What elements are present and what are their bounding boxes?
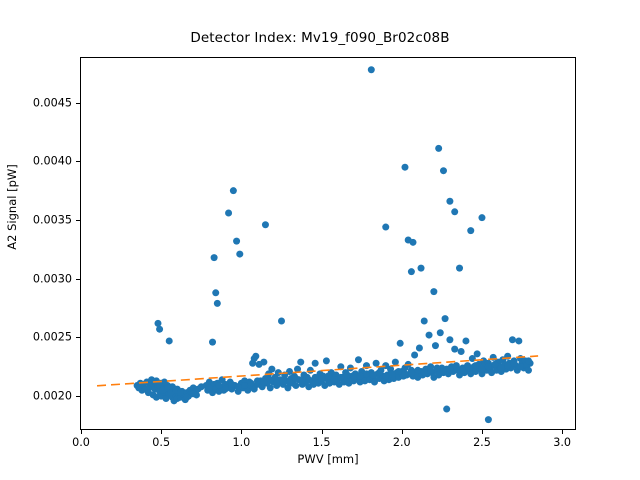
y-tick-label: 0.0030	[6, 272, 72, 285]
scatter-point	[183, 394, 190, 401]
scatter-point	[376, 369, 383, 376]
scatter-point	[286, 379, 293, 386]
scatter-point	[198, 383, 205, 390]
x-tick-mark	[241, 430, 242, 434]
scatter-point	[235, 383, 242, 390]
y-tick-mark	[76, 161, 80, 162]
scatter-point	[273, 380, 280, 387]
scatter-point	[474, 350, 481, 357]
scatter-point	[418, 265, 425, 272]
scatter-point	[453, 363, 460, 370]
scatter-point	[382, 224, 389, 231]
scatter-point	[446, 336, 453, 343]
scatter-point	[446, 198, 453, 205]
x-tick-label: 0.0	[51, 436, 111, 449]
scatter-point	[280, 377, 287, 384]
y-tick-mark	[76, 279, 80, 280]
scatter-point	[421, 317, 428, 324]
x-tick-label: 2.0	[372, 436, 432, 449]
scatter-point	[228, 381, 235, 388]
x-axis-tick-labels: 0.00.51.01.52.02.53.0	[0, 436, 640, 456]
scatter-point	[456, 265, 463, 272]
scatter-point	[312, 360, 319, 367]
scatter-point	[248, 380, 255, 387]
scatter-point	[214, 300, 221, 307]
scatter-point	[337, 374, 344, 381]
scatter-point	[421, 369, 428, 376]
scatter-point	[440, 167, 447, 174]
plot-area	[80, 57, 576, 430]
scatter-point	[462, 337, 469, 344]
scatter-point	[446, 366, 453, 373]
scatter-point	[459, 367, 466, 374]
scatter-point	[434, 364, 441, 371]
x-tick-label: 0.5	[131, 436, 191, 449]
scatter-point	[206, 384, 213, 391]
y-tick-label: 0.0020	[6, 390, 72, 403]
scatter-point	[307, 367, 314, 374]
scatter-point	[268, 366, 275, 373]
figure: Detector Index: Mv19_f090_Br02c08B A2 Si…	[0, 0, 640, 480]
scatter-point	[491, 361, 498, 368]
scatter-point	[440, 368, 447, 375]
scatter-point	[230, 187, 237, 194]
scatter-point	[236, 251, 243, 258]
scatter-point	[331, 376, 338, 383]
scatter-point	[430, 288, 437, 295]
scatter-point	[401, 370, 408, 377]
scatter-point	[485, 416, 492, 423]
scatter-point	[410, 239, 417, 246]
scatter-point	[517, 363, 524, 370]
scatter-plot-canvas	[81, 58, 575, 429]
scatter-point	[177, 389, 184, 396]
y-tick-mark	[76, 220, 80, 221]
scatter-point	[292, 382, 299, 389]
scatter-point	[267, 376, 274, 383]
scatter-point	[252, 353, 259, 360]
x-tick-mark	[161, 430, 162, 434]
scatter-point	[443, 406, 450, 413]
scatter-point	[368, 66, 375, 73]
x-tick-mark	[322, 430, 323, 434]
y-tick-mark	[76, 103, 80, 104]
scatter-point	[498, 364, 505, 371]
scatter-point	[427, 367, 434, 374]
scatter-point	[411, 352, 418, 359]
scatter-point	[515, 337, 522, 344]
scatter-points-group	[134, 66, 534, 423]
x-tick-mark	[482, 430, 483, 434]
scatter-point	[190, 390, 197, 397]
scatter-point	[325, 373, 332, 380]
x-tick-label: 2.5	[452, 436, 512, 449]
scatter-point	[525, 357, 532, 364]
scatter-point	[212, 289, 219, 296]
scatter-point	[156, 326, 163, 333]
scatter-point	[451, 208, 458, 215]
scatter-point	[437, 329, 444, 336]
scatter-point	[504, 362, 511, 369]
scatter-point	[467, 227, 474, 234]
scatter-point	[260, 379, 267, 386]
x-tick-label: 1.5	[292, 436, 352, 449]
x-tick-mark	[562, 430, 563, 434]
scatter-point	[426, 332, 433, 339]
scatter-point	[225, 209, 232, 216]
y-tick-label: 0.0040	[6, 155, 72, 168]
scatter-point	[478, 214, 485, 221]
y-axis-tick-labels: 0.00200.00250.00300.00350.00400.0045	[0, 0, 72, 480]
scatter-point	[297, 359, 304, 366]
scatter-point	[511, 360, 518, 367]
scatter-point	[299, 377, 306, 384]
scatter-point	[408, 268, 415, 275]
scatter-point	[209, 339, 216, 346]
scatter-point	[344, 371, 351, 378]
scatter-point	[233, 238, 240, 245]
scatter-point	[373, 360, 380, 367]
scatter-point	[241, 382, 248, 389]
scatter-point	[166, 337, 173, 344]
scatter-point	[369, 371, 376, 378]
scatter-point	[267, 384, 274, 391]
y-tick-label: 0.0035	[6, 214, 72, 227]
scatter-point	[395, 368, 402, 375]
scatter-point	[525, 367, 532, 374]
y-tick-label: 0.0045	[6, 96, 72, 109]
scatter-point	[323, 357, 330, 364]
scatter-point	[211, 254, 218, 261]
scatter-point	[432, 342, 439, 349]
scatter-point	[466, 364, 473, 371]
scatter-point	[154, 320, 161, 327]
scatter-point	[485, 363, 492, 370]
scatter-point	[509, 336, 516, 343]
scatter-point	[442, 315, 449, 322]
scatter-point	[355, 356, 362, 363]
scatter-point	[278, 317, 285, 324]
x-tick-label: 1.0	[211, 436, 271, 449]
scatter-point	[350, 374, 357, 381]
scatter-point	[472, 362, 479, 369]
x-tick-mark	[81, 430, 82, 434]
scatter-point	[389, 370, 396, 377]
y-tick-label: 0.0025	[6, 331, 72, 344]
y-tick-mark	[76, 337, 80, 338]
scatter-point	[478, 366, 485, 373]
scatter-point	[416, 344, 423, 351]
scatter-point	[292, 375, 299, 382]
scatter-point	[312, 374, 319, 381]
scatter-point	[382, 373, 389, 380]
scatter-point	[357, 373, 364, 380]
scatter-point	[262, 221, 269, 228]
scatter-point	[401, 164, 408, 171]
y-tick-mark	[76, 396, 80, 397]
scatter-point	[451, 346, 458, 353]
scatter-point	[414, 367, 421, 374]
scatter-point	[392, 359, 399, 366]
scatter-point	[215, 382, 222, 389]
scatter-point	[260, 359, 267, 366]
scatter-point	[458, 348, 465, 355]
scatter-point	[435, 145, 442, 152]
scatter-point	[222, 386, 229, 393]
scatter-point	[363, 370, 370, 377]
scatter-point	[305, 376, 312, 383]
scatter-point	[408, 369, 415, 376]
page-title: Detector Index: Mv19_f090_Br02c08B	[0, 30, 640, 46]
x-tick-label: 3.0	[532, 436, 592, 449]
x-tick-mark	[402, 430, 403, 434]
scatter-point	[318, 375, 325, 382]
scatter-point	[254, 377, 261, 384]
scatter-point	[397, 340, 404, 347]
